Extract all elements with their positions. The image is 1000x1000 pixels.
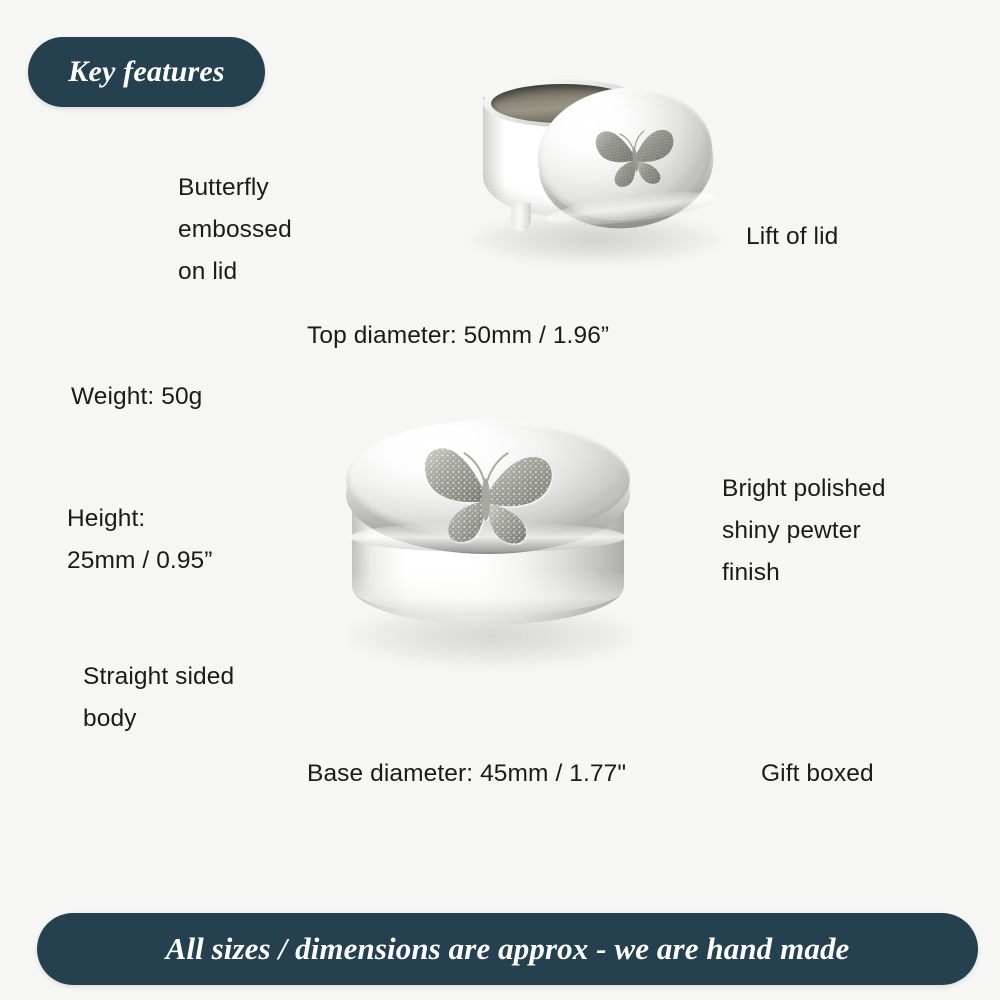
feature-label-base-diameter: Base diameter: 45mm / 1.77" [307, 753, 727, 795]
key-features-pill: Key features [28, 37, 265, 107]
butterfly-emboss-icon [583, 111, 687, 196]
feature-label-gift-boxed: Gift boxed [761, 753, 1000, 795]
feature-label-straight-sided-body: Straight sided body [83, 656, 333, 740]
feature-label-butterfly-embossed: Butterfly embossed on lid [178, 167, 418, 293]
feature-label-weight: Weight: 50g [71, 376, 321, 418]
butterfly-emboss-icon [394, 432, 579, 550]
disclaimer-banner: All sizes / dimensions are approx - we a… [37, 913, 978, 985]
product-feature-graphic: Key features [0, 0, 1000, 1000]
feature-label-top-diameter: Top diameter: 50mm / 1.96” [307, 315, 727, 357]
feature-label-lift-of-lid: Lift of lid [746, 216, 986, 258]
feature-label-height: Height: 25mm / 0.95” [67, 498, 297, 582]
feature-label-bright-polished-finish: Bright polished shiny pewter finish [722, 468, 972, 594]
open-box-foot [511, 203, 531, 231]
product-image-open-box [455, 55, 755, 270]
